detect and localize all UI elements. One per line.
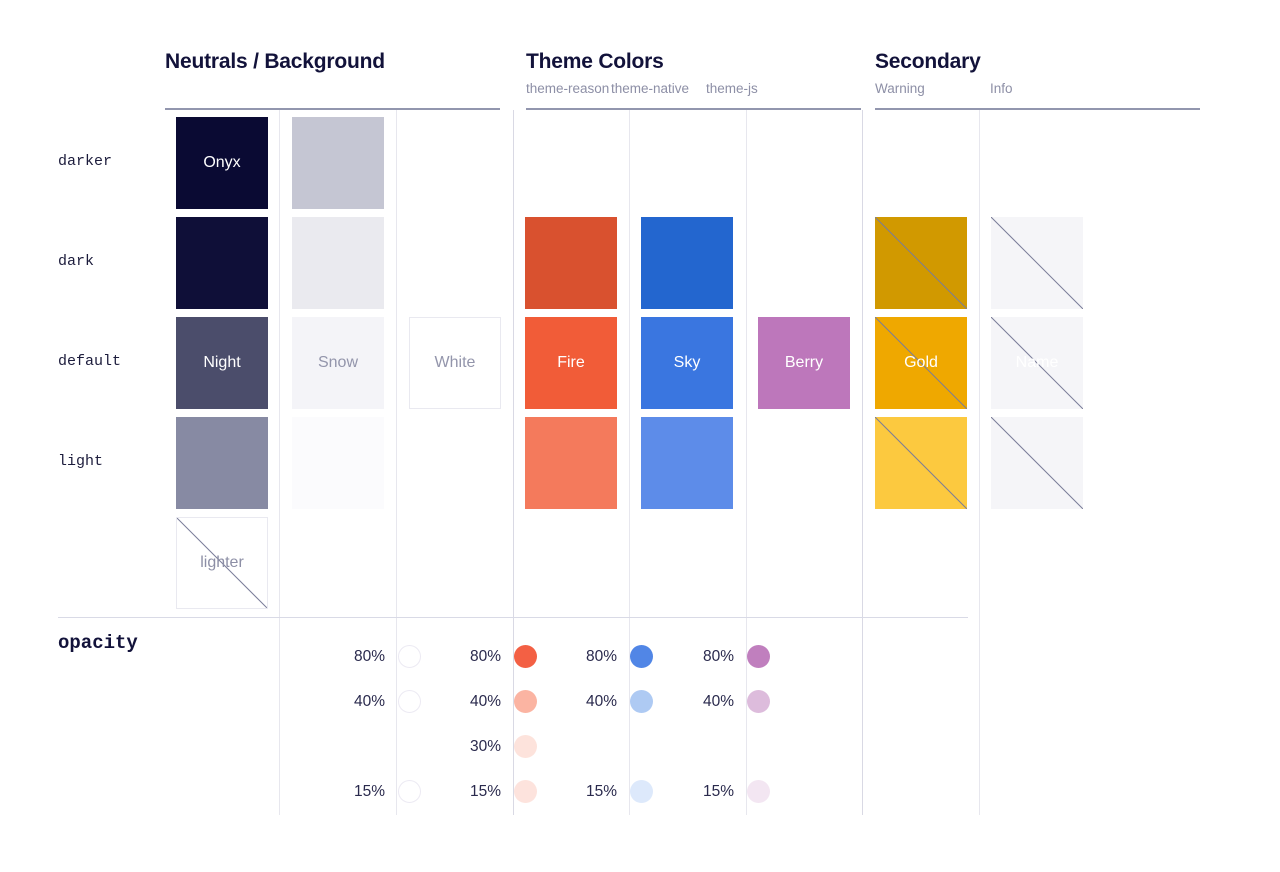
opacity-dot[interactable]: [747, 690, 770, 713]
swatch-label: Sky: [674, 354, 701, 372]
swatch-gold-dark[interactable]: [875, 217, 967, 309]
opacity-dot[interactable]: [630, 780, 653, 803]
swatch-fire-default[interactable]: Fire: [525, 317, 617, 409]
swatch-label: lighter: [200, 554, 244, 572]
opacity-percent: 15%: [694, 783, 734, 801]
swatch-label: White: [435, 354, 476, 372]
swatch-label: Night: [203, 354, 240, 372]
swatch-info-dark[interactable]: [991, 217, 1083, 309]
swatch-onyx-light[interactable]: [176, 417, 268, 509]
opacity-percent: 80%: [577, 648, 617, 666]
section-title: Neutrals / Background: [165, 50, 385, 74]
section-rule: [875, 108, 1200, 110]
opacity-percent: 40%: [577, 693, 617, 711]
swatch-info-default[interactable]: Name: [991, 317, 1083, 409]
opacity-dot[interactable]: [630, 645, 653, 668]
swatch-label: Gold: [904, 354, 938, 372]
opacity-percent: 15%: [461, 783, 501, 801]
swatch-onyx-dark[interactable]: [176, 217, 268, 309]
opacity-dot[interactable]: [398, 690, 421, 713]
swatch-gold-default[interactable]: Gold: [875, 317, 967, 409]
section-subtitle-theme-native: theme-native: [611, 81, 689, 96]
swatch-label: Berry: [785, 354, 823, 372]
swatch-sky-light[interactable]: [641, 417, 733, 509]
opacity-section-divider: [58, 617, 968, 618]
opacity-row-berry-40[interactable]: 40%: [694, 690, 770, 713]
section-subtitle-theme-js: theme-js: [706, 81, 758, 96]
swatch-onyx-lighter[interactable]: lighter: [176, 517, 268, 609]
section-subtitle-Info: Info: [990, 81, 1013, 96]
column-divider-0: [279, 110, 280, 815]
swatch-snow-dark[interactable]: [292, 217, 384, 309]
opacity-row-sky-80[interactable]: 80%: [577, 645, 653, 668]
column-divider-5: [862, 110, 863, 815]
palette-canvas: Neutrals / BackgroundTheme Colorstheme-r…: [0, 0, 1280, 872]
column-divider-6: [979, 110, 980, 815]
swatch-label: Snow: [318, 354, 358, 372]
opacity-percent: 80%: [345, 648, 385, 666]
opacity-dot[interactable]: [514, 690, 537, 713]
opacity-row-white-15[interactable]: 15%: [345, 780, 421, 803]
swatch-snow-darker[interactable]: [292, 117, 384, 209]
opacity-row-berry-80[interactable]: 80%: [694, 645, 770, 668]
row-label-darker: darker: [58, 153, 112, 170]
swatch-white-default[interactable]: White: [409, 317, 501, 409]
opacity-section-label: opacity: [58, 632, 138, 654]
opacity-row-berry-15[interactable]: 15%: [694, 780, 770, 803]
opacity-percent: 40%: [461, 693, 501, 711]
row-label-light: light: [58, 453, 103, 470]
opacity-row-fire-30[interactable]: 30%: [461, 735, 537, 758]
section-subtitle-Warning: Warning: [875, 81, 925, 96]
section-subtitle-theme-reason: theme-reason: [526, 81, 609, 96]
section-rule: [165, 108, 500, 110]
swatch-onyx-darker[interactable]: Onyx: [176, 117, 268, 209]
opacity-dot[interactable]: [747, 645, 770, 668]
swatch-snow-light[interactable]: [292, 417, 384, 509]
swatch-gold-light[interactable]: [875, 417, 967, 509]
section-rule: [526, 108, 861, 110]
opacity-row-sky-40[interactable]: 40%: [577, 690, 653, 713]
opacity-percent: 30%: [461, 738, 501, 756]
swatch-label: Onyx: [203, 154, 240, 172]
swatch-onyx-default[interactable]: Night: [176, 317, 268, 409]
section-title: Theme Colors: [526, 50, 664, 74]
swatch-label: Name: [1016, 354, 1059, 372]
swatch-fire-dark[interactable]: [525, 217, 617, 309]
row-label-default: default: [58, 353, 121, 370]
opacity-percent: 40%: [345, 693, 385, 711]
swatch-fire-light[interactable]: [525, 417, 617, 509]
swatch-snow-default[interactable]: Snow: [292, 317, 384, 409]
opacity-dot[interactable]: [514, 645, 537, 668]
section-subtitles: WarningInfo: [875, 81, 981, 99]
opacity-percent: 40%: [694, 693, 734, 711]
swatch-sky-default[interactable]: Sky: [641, 317, 733, 409]
section-header-theme: Theme Colorstheme-reasontheme-nativethem…: [526, 50, 664, 99]
opacity-percent: 80%: [694, 648, 734, 666]
opacity-dot[interactable]: [747, 780, 770, 803]
swatch-sky-dark[interactable]: [641, 217, 733, 309]
section-title: Secondary: [875, 50, 981, 74]
swatch-info-light[interactable]: [991, 417, 1083, 509]
opacity-percent: 15%: [577, 783, 617, 801]
opacity-row-fire-80[interactable]: 80%: [461, 645, 537, 668]
opacity-row-white-40[interactable]: 40%: [345, 690, 421, 713]
opacity-row-white-80[interactable]: 80%: [345, 645, 421, 668]
opacity-dot[interactable]: [398, 780, 421, 803]
opacity-dot[interactable]: [514, 735, 537, 758]
swatch-berry-default[interactable]: Berry: [758, 317, 850, 409]
section-header-secondary: SecondaryWarningInfo: [875, 50, 981, 99]
opacity-dot[interactable]: [514, 780, 537, 803]
section-header-neutrals: Neutrals / Background: [165, 50, 385, 99]
section-subtitles: theme-reasontheme-nativetheme-js: [526, 81, 664, 99]
opacity-dot[interactable]: [398, 645, 421, 668]
opacity-row-fire-15[interactable]: 15%: [461, 780, 537, 803]
opacity-percent: 80%: [461, 648, 501, 666]
opacity-dot[interactable]: [630, 690, 653, 713]
swatch-label: Fire: [557, 354, 585, 372]
opacity-percent: 15%: [345, 783, 385, 801]
row-label-dark: dark: [58, 253, 94, 270]
opacity-row-sky-15[interactable]: 15%: [577, 780, 653, 803]
opacity-row-fire-40[interactable]: 40%: [461, 690, 537, 713]
